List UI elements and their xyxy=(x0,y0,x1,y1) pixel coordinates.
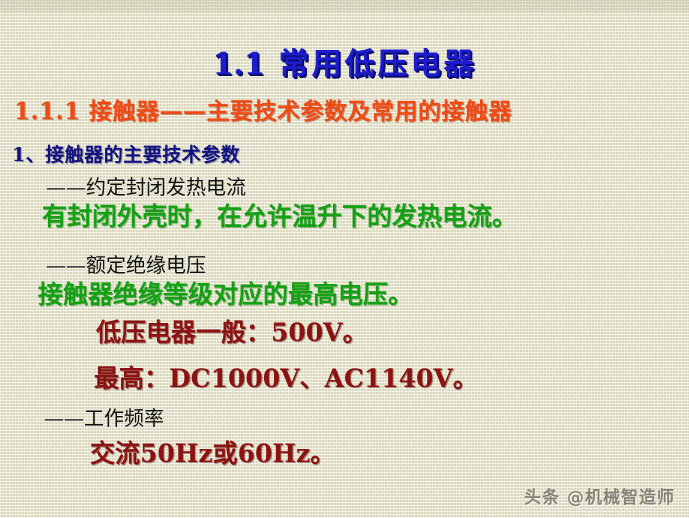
presentation-slide: 1.1常用低压电器 1.1.1 接触器——主要技术参数及常用的接触器 1、接触器… xyxy=(0,0,689,518)
title-number: 1.1 xyxy=(212,47,264,82)
body-text-insulation-voltage: 接触器绝缘等级对应的最高电压。 xyxy=(38,282,413,307)
detail-text-general-voltage: 低压电器一般：500V。 xyxy=(96,320,368,345)
slide-subtitle: 1.1.1 接触器——主要技术参数及常用的接触器 xyxy=(14,100,512,123)
dash-label-insulation-voltage: ——额定绝缘电压 xyxy=(46,255,206,275)
detail-text-frequency: 交流50Hz或60Hz。 xyxy=(90,441,335,466)
dash-label-thermal-current: ——约定封闭发热电流 xyxy=(46,177,246,197)
watermark-text: 头条 @机械智造师 xyxy=(524,483,675,508)
body-text-thermal-current: 有封闭外壳时，在允许温升下的发热电流。 xyxy=(42,204,517,229)
slide-top-band xyxy=(0,0,689,12)
detail-text-max-voltage: 最高：DC1000V、AC1140V。 xyxy=(94,366,478,391)
title-text: 常用低压电器 xyxy=(279,47,477,82)
section-heading: 1、接触器的主要技术参数 xyxy=(12,146,240,165)
slide-title: 1.1常用低压电器 xyxy=(0,50,689,80)
dash-label-working-frequency: ——工作频率 xyxy=(44,408,164,428)
